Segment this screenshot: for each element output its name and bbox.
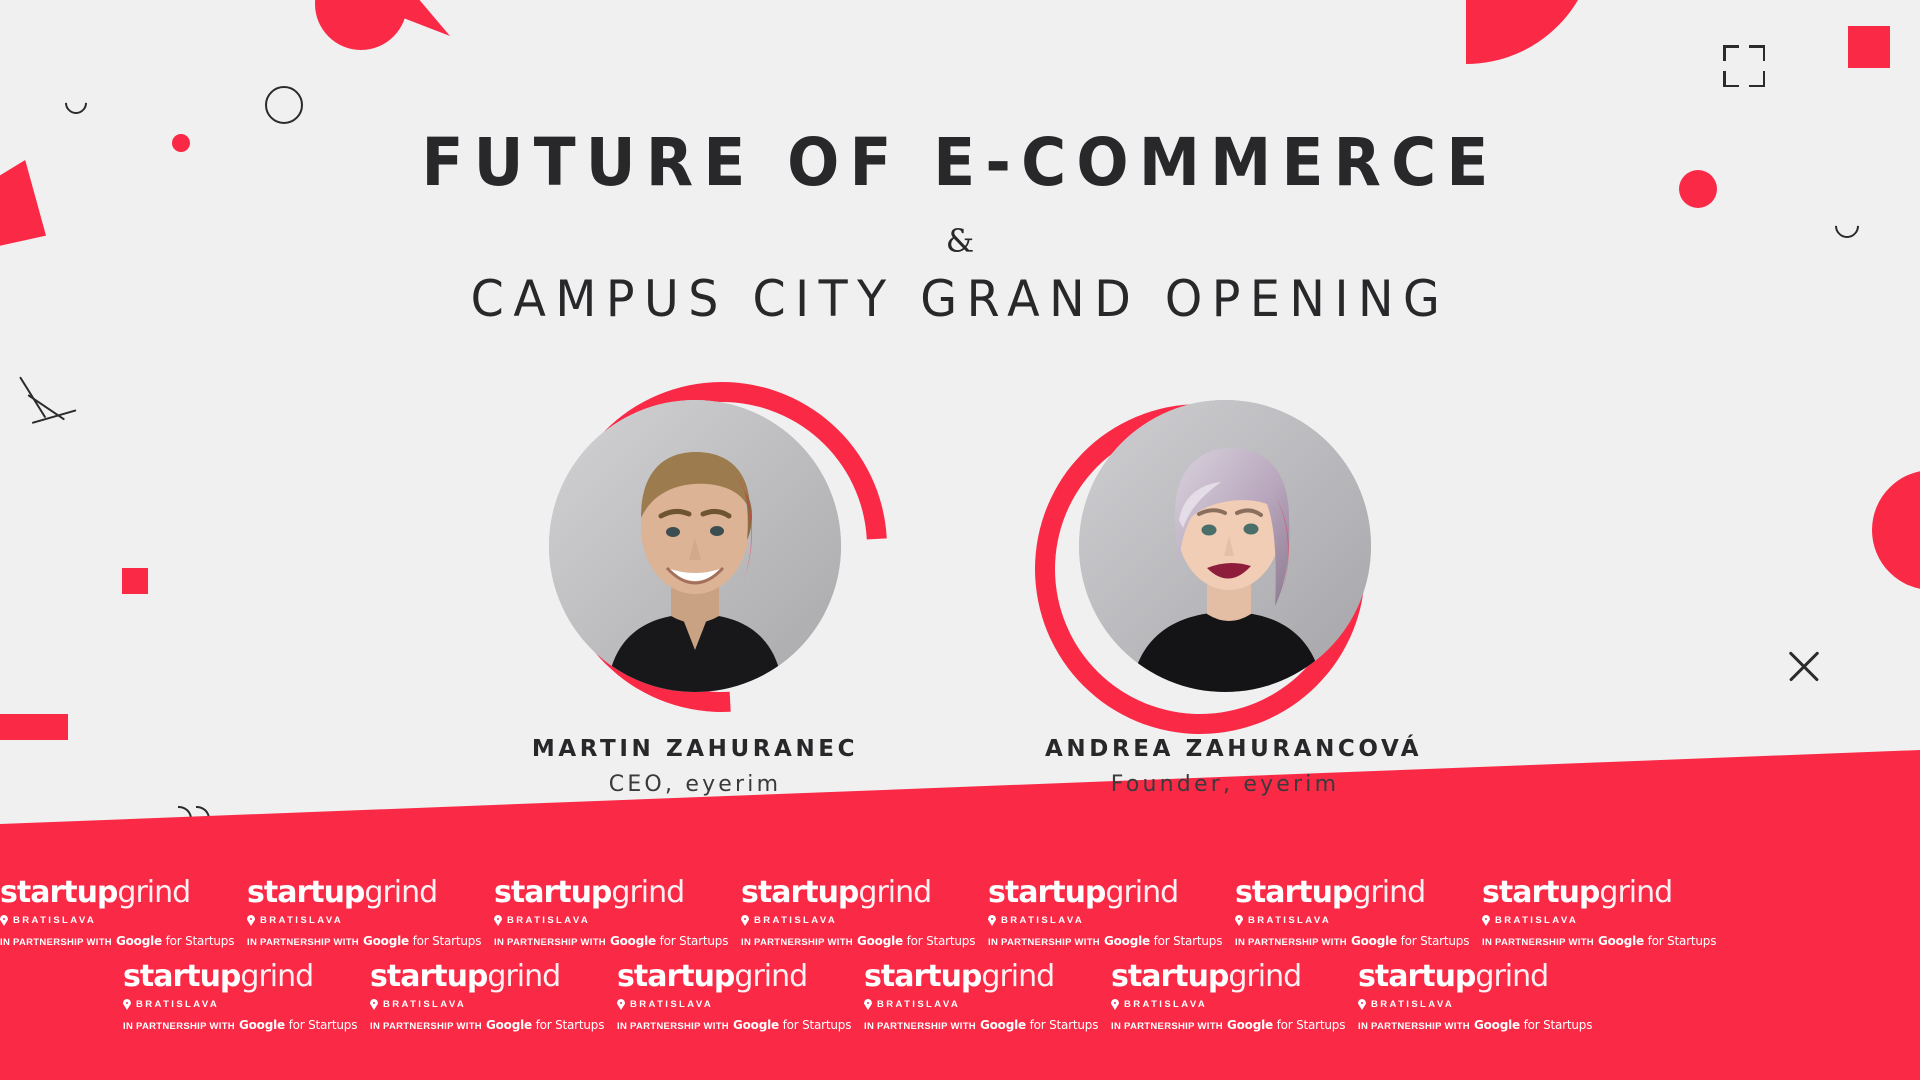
- google-for-startups-lockup: Google for Startups: [239, 1018, 357, 1032]
- sponsor-partner-line: IN PARTNERSHIP WITHGoogle for Startups: [247, 934, 494, 948]
- partner-prefix-label: IN PARTNERSHIP WITH: [1482, 937, 1594, 948]
- partner-prefix-label: IN PARTNERSHIP WITH: [0, 937, 112, 948]
- sponsor-logo: startupgrindBRATISLAVAIN PARTNERSHIP WIT…: [494, 878, 741, 948]
- location-pin-icon: [370, 999, 378, 1010]
- sponsor-wordmark: startupgrind: [1358, 962, 1605, 992]
- speaker-card: ANDREA ZAHURANCOVÁ Founder, eyerim: [1045, 388, 1405, 797]
- google-for-startups-lockup: Google for Startups: [486, 1018, 604, 1032]
- speaker-photo-wrap: [1045, 388, 1405, 718]
- location-pin-icon: [1111, 999, 1119, 1010]
- title-ampersand: &: [0, 222, 1920, 260]
- sponsor-wordmark: startupgrind: [617, 962, 864, 992]
- sponsor-wordmark: startupgrind: [988, 878, 1235, 908]
- sponsor-logo: startupgrindBRATISLAVAIN PARTNERSHIP WIT…: [1235, 878, 1482, 948]
- arc-c-icon: [60, 87, 91, 118]
- google-for-startups-lockup: Google for Startups: [363, 934, 481, 948]
- sponsor-city: BRATISLAVA: [1482, 915, 1729, 926]
- sponsor-city: BRATISLAVA: [123, 999, 370, 1010]
- page-subtitle: CAMPUS CITY GRAND OPENING: [48, 270, 1872, 328]
- speakers-row: MARTIN ZAHURANEC CEO, eyerim: [0, 388, 1920, 797]
- partner-prefix-label: IN PARTNERSHIP WITH: [1358, 1021, 1470, 1032]
- headline-block: FUTURE OF E-COMMERCE & CAMPUS CITY GRAND…: [0, 128, 1920, 328]
- sponsor-wordmark: startupgrind: [123, 962, 370, 992]
- sponsor-city: BRATISLAVA: [370, 999, 617, 1010]
- location-pin-icon: [0, 915, 8, 926]
- red-square-icon: [1848, 26, 1890, 68]
- google-for-startups-lockup: Google for Startups: [1104, 934, 1222, 948]
- red-quarter-circle-icon: [1466, 0, 1596, 64]
- google-for-startups-lockup: Google for Startups: [116, 934, 234, 948]
- location-pin-icon: [988, 915, 996, 926]
- partner-prefix-label: IN PARTNERSHIP WITH: [741, 937, 853, 948]
- speaker-card: MARTIN ZAHURANEC CEO, eyerim: [515, 388, 875, 797]
- sponsor-logo: startupgrindBRATISLAVAIN PARTNERSHIP WIT…: [741, 878, 988, 948]
- partner-prefix-label: IN PARTNERSHIP WITH: [864, 1021, 976, 1032]
- sponsor-partner-line: IN PARTNERSHIP WITHGoogle for Startups: [0, 934, 247, 948]
- partner-prefix-label: IN PARTNERSHIP WITH: [494, 937, 606, 948]
- partner-prefix-label: IN PARTNERSHIP WITH: [123, 1021, 235, 1032]
- sponsor-wordmark: startupgrind: [1235, 878, 1482, 908]
- sponsor-logo: startupgrindBRATISLAVAIN PARTNERSHIP WIT…: [988, 878, 1235, 948]
- sponsor-wordmark: startupgrind: [370, 962, 617, 992]
- google-for-startups-lockup: Google for Startups: [1474, 1018, 1592, 1032]
- sponsor-partner-line: IN PARTNERSHIP WITHGoogle for Startups: [988, 934, 1235, 948]
- sponsor-city-label: BRATISLAVA: [136, 999, 219, 1010]
- sponsor-wordmark: startupgrind: [494, 878, 741, 908]
- sponsor-logo: startupgrindBRATISLAVAIN PARTNERSHIP WIT…: [247, 878, 494, 948]
- sponsor-partner-line: IN PARTNERSHIP WITHGoogle for Startups: [864, 1018, 1111, 1032]
- partner-prefix-label: IN PARTNERSHIP WITH: [988, 937, 1100, 948]
- partner-prefix-label: IN PARTNERSHIP WITH: [617, 1021, 729, 1032]
- sponsor-city: BRATISLAVA: [988, 915, 1235, 926]
- sponsor-city-label: BRATISLAVA: [13, 915, 96, 926]
- sponsor-logo: startupgrindBRATISLAVAIN PARTNERSHIP WIT…: [0, 878, 247, 948]
- sponsor-city-label: BRATISLAVA: [1248, 915, 1331, 926]
- sponsor-city-label: BRATISLAVA: [1371, 999, 1454, 1010]
- sponsor-logo: startupgrindBRATISLAVAIN PARTNERSHIP WIT…: [1111, 962, 1358, 1032]
- sponsor-city-label: BRATISLAVA: [754, 915, 837, 926]
- sponsor-city: BRATISLAVA: [1358, 999, 1605, 1010]
- partner-prefix-label: IN PARTNERSHIP WITH: [1235, 937, 1347, 948]
- google-for-startups-lockup: Google for Startups: [857, 934, 975, 948]
- sponsor-partner-line: IN PARTNERSHIP WITHGoogle for Startups: [1358, 1018, 1605, 1032]
- sponsor-partner-line: IN PARTNERSHIP WITHGoogle for Startups: [1235, 934, 1482, 948]
- avatar: [1079, 400, 1371, 692]
- outline-circle-icon: [265, 86, 303, 124]
- sponsor-city-label: BRATISLAVA: [383, 999, 466, 1010]
- sponsor-city-label: BRATISLAVA: [260, 915, 343, 926]
- sponsor-city-label: BRATISLAVA: [507, 915, 590, 926]
- sponsor-city: BRATISLAVA: [617, 999, 864, 1010]
- google-for-startups-lockup: Google for Startups: [610, 934, 728, 948]
- partner-prefix-label: IN PARTNERSHIP WITH: [1111, 1021, 1223, 1032]
- avatar: [549, 400, 841, 692]
- sponsor-logo-row-2: startupgrindBRATISLAVAIN PARTNERSHIP WIT…: [123, 962, 1920, 1032]
- sponsor-logo: startupgrindBRATISLAVAIN PARTNERSHIP WIT…: [864, 962, 1111, 1032]
- sponsor-city-label: BRATISLAVA: [1495, 915, 1578, 926]
- sponsor-partner-line: IN PARTNERSHIP WITHGoogle for Startups: [1482, 934, 1729, 948]
- red-circle-icon: [1775, 812, 1831, 868]
- sponsor-wordmark: startupgrind: [741, 878, 988, 908]
- sponsor-logo: startupgrindBRATISLAVAIN PARTNERSHIP WIT…: [1358, 962, 1605, 1032]
- google-for-startups-lockup: Google for Startups: [1351, 934, 1469, 948]
- sponsor-city: BRATISLAVA: [1111, 999, 1358, 1010]
- event-poster: FUTURE OF E-COMMERCE & CAMPUS CITY GRAND…: [0, 0, 1920, 1080]
- sponsor-city: BRATISLAVA: [247, 915, 494, 926]
- page-title: FUTURE OF E-COMMERCE: [67, 128, 1853, 198]
- speaker-name: MARTIN ZAHURANEC: [515, 736, 875, 762]
- partner-prefix-label: IN PARTNERSHIP WITH: [370, 1021, 482, 1032]
- sponsor-wordmark: startupgrind: [247, 878, 494, 908]
- location-pin-icon: [1235, 915, 1243, 926]
- sponsor-city: BRATISLAVA: [864, 999, 1111, 1010]
- sponsor-city: BRATISLAVA: [494, 915, 741, 926]
- sponsor-logo: startupgrindBRATISLAVAIN PARTNERSHIP WIT…: [370, 962, 617, 1032]
- sponsor-city-label: BRATISLAVA: [1124, 999, 1207, 1010]
- sponsor-partner-line: IN PARTNERSHIP WITHGoogle for Startups: [741, 934, 988, 948]
- location-pin-icon: [494, 915, 502, 926]
- sponsor-wordmark: startupgrind: [864, 962, 1111, 992]
- sponsor-wordmark: startupgrind: [1482, 878, 1729, 908]
- sponsor-logo: startupgrindBRATISLAVAIN PARTNERSHIP WIT…: [1482, 878, 1729, 948]
- sponsor-wordmark: startupgrind: [1111, 962, 1358, 992]
- sponsor-wordmark: startupgrind: [0, 878, 247, 908]
- google-for-startups-lockup: Google for Startups: [1227, 1018, 1345, 1032]
- sponsor-partner-line: IN PARTNERSHIP WITHGoogle for Startups: [494, 934, 741, 948]
- sponsor-logo: startupgrindBRATISLAVAIN PARTNERSHIP WIT…: [617, 962, 864, 1032]
- location-pin-icon: [741, 915, 749, 926]
- speaker-role: Founder, eyerim: [1045, 772, 1405, 797]
- google-for-startups-lockup: Google for Startups: [1598, 934, 1716, 948]
- sponsor-city: BRATISLAVA: [0, 915, 247, 926]
- sponsor-partner-line: IN PARTNERSHIP WITHGoogle for Startups: [123, 1018, 370, 1032]
- location-pin-icon: [1482, 915, 1490, 926]
- google-for-startups-lockup: Google for Startups: [980, 1018, 1098, 1032]
- speaker-photo-wrap: [515, 388, 875, 718]
- speaker-name: ANDREA ZAHURANCOVÁ: [1045, 736, 1405, 762]
- sponsor-partner-line: IN PARTNERSHIP WITHGoogle for Startups: [1111, 1018, 1358, 1032]
- sponsor-city: BRATISLAVA: [741, 915, 988, 926]
- sponsor-city-label: BRATISLAVA: [630, 999, 713, 1010]
- sponsor-city: BRATISLAVA: [1235, 915, 1482, 926]
- location-pin-icon: [247, 915, 255, 926]
- sponsor-band: startupgrindBRATISLAVAIN PARTNERSHIP WIT…: [0, 750, 1920, 1080]
- sponsor-logo-row-1: startupgrindBRATISLAVAIN PARTNERSHIP WIT…: [0, 878, 1920, 948]
- location-pin-icon: [617, 999, 625, 1010]
- sponsor-partner-line: IN PARTNERSHIP WITHGoogle for Startups: [370, 1018, 617, 1032]
- google-for-startups-lockup: Google for Startups: [733, 1018, 851, 1032]
- location-pin-icon: [864, 999, 872, 1010]
- sponsor-city-label: BRATISLAVA: [877, 999, 960, 1010]
- location-pin-icon: [123, 999, 131, 1010]
- crop-bracket-icon: [1723, 45, 1765, 87]
- sponsor-logo: startupgrindBRATISLAVAIN PARTNERSHIP WIT…: [123, 962, 370, 1032]
- sponsor-city-label: BRATISLAVA: [1001, 915, 1084, 926]
- location-pin-icon: [1358, 999, 1366, 1010]
- partner-prefix-label: IN PARTNERSHIP WITH: [247, 937, 359, 948]
- sponsor-partner-line: IN PARTNERSHIP WITHGoogle for Startups: [617, 1018, 864, 1032]
- speaker-role: CEO, eyerim: [515, 772, 875, 797]
